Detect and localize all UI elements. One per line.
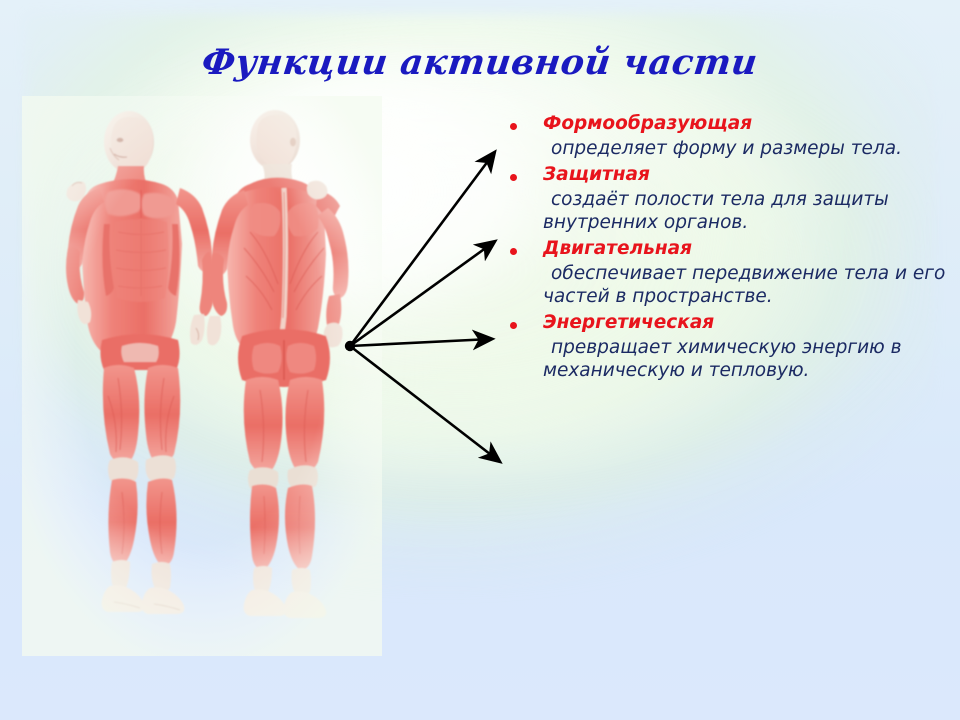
function-description: обеспечивает передвижение тела и его час… (543, 262, 955, 309)
function-description: создаёт полости тела для защиты внутренн… (543, 188, 955, 235)
list-item: Защитная создаёт полости тела для защиты… (505, 163, 955, 235)
function-heading: Энергетическая (543, 311, 955, 335)
slide-canvas: Функции активной части (0, 0, 960, 720)
arrow-to-function-1 (350, 153, 494, 346)
function-heading: Формообразующая (543, 112, 955, 136)
bullet-dot-icon (510, 322, 517, 329)
arrow-to-function-4 (350, 346, 499, 461)
bullet-dot-icon (510, 174, 517, 181)
bullet-dot-icon (510, 248, 517, 255)
function-description: определяет форму и размеры тела. (543, 137, 955, 161)
list-item: Формообразующая определяет форму и разме… (505, 112, 955, 161)
functions-list: Формообразующая определяет форму и разме… (505, 112, 955, 384)
function-description: превращает химическую энергию в механиче… (543, 336, 955, 383)
arrow-to-function-2 (350, 242, 494, 346)
function-heading: Двигательная (543, 237, 955, 261)
list-item: Двигательная обеспечивает передвижение т… (505, 237, 955, 309)
function-heading: Защитная (543, 163, 955, 187)
arrow-to-function-3 (350, 339, 491, 346)
list-item: Энергетическая превращает химическую эне… (505, 311, 955, 383)
bullet-dot-icon (510, 123, 517, 130)
arrow-origin-dot (345, 341, 355, 351)
